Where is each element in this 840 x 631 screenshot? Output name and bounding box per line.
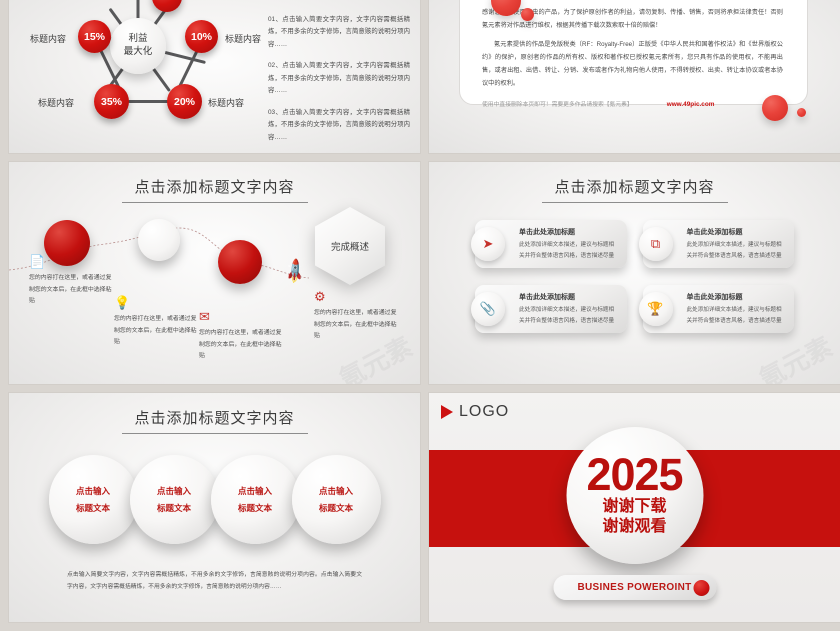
- radial-node-35[interactable]: 35%: [94, 84, 129, 119]
- notice-card: 感谢您下载使用图虫的产品，为了保护原创作者的利益，请勿复制、传播、销售，否则将承…: [459, 0, 808, 105]
- card-heading: 单击此处添加标题: [687, 227, 788, 237]
- timeline-item[interactable]: ✉ 您的内容打在这里，或者通过复制您的文本后，在此框中选择粘贴: [199, 310, 285, 363]
- slide-thank-you[interactable]: LOGO 2025 谢谢下载 谢谢观看 BUSINES POWEROINT: [429, 393, 840, 622]
- completion-hexagon[interactable]: 完成概述: [315, 207, 385, 285]
- circle-line-2: 标题文本: [319, 500, 353, 516]
- decorative-blob: [521, 8, 534, 21]
- radial-paragraph: 01、点击输入简要文字内容，文字内容需概括精炼，不用多余的文字修饰，言简意赅的说…: [268, 14, 410, 51]
- radial-label-right-top: 标题内容: [225, 32, 261, 45]
- page-title: 点击添加标题文字内容: [429, 162, 840, 197]
- trophy-icon: 🏆: [639, 292, 673, 326]
- card-heading: 单击此处添加标题: [687, 292, 788, 302]
- card-body: 此处添加详细文本描述，建议与标题相关并符合整体语言风格，语言描述尽量: [687, 240, 788, 261]
- card-body: 此处添加详细文本描述，建议与标题相关并符合整体语言风格，语言描述尽量: [519, 305, 620, 326]
- notice-footer-url[interactable]: www.49pic.com: [667, 101, 715, 108]
- hub-line-2: 最大化: [124, 46, 153, 59]
- circle-item[interactable]: 点击输入 标题文本: [130, 455, 219, 544]
- radial-node-top[interactable]: [152, 0, 182, 12]
- title-divider: [542, 202, 728, 203]
- page-title: 点击添加标题文字内容: [9, 393, 420, 428]
- notice-body: 感谢您下载使用图虫的产品，为了保护原创作者的利益，请勿复制、传播、销售，否则将承…: [460, 0, 807, 108]
- thanks-circle: 2025 谢谢下载 谢谢观看: [566, 427, 703, 564]
- slide-radial-diagram[interactable]: 利益 最大化 15% 10% 35% 20% 标题内容 标题内容 标题内容 标题…: [9, 0, 420, 153]
- hub-line-1: 利益: [128, 33, 147, 46]
- pill-label: BUSINES POWEROINT: [578, 582, 692, 593]
- slide-grid: 利益 最大化 15% 10% 35% 20% 标题内容 标题内容 标题内容 标题…: [0, 0, 840, 631]
- timeline-item-text: 您的内容打在这里，或者通过复制您的文本后，在此框中选择粘贴: [314, 308, 400, 343]
- year-label: 2025: [586, 454, 682, 497]
- circle-line-2: 标题文本: [76, 500, 110, 516]
- circle-footer-text: 点击输入简要文字内容，文字内容需概括精炼，不用多余的文字修饰，言简意赅的说明分项…: [67, 569, 362, 593]
- radial-node-20[interactable]: 20%: [167, 84, 202, 119]
- powerpoint-pill[interactable]: BUSINES POWEROINT: [553, 575, 716, 600]
- radial-label-left-bottom: 标题内容: [38, 96, 74, 109]
- card-heading: 单击此处添加标题: [519, 292, 620, 302]
- timeline-item[interactable]: 💡 您的内容打在这里，或者通过复制您的文本后，在此框中选择粘贴: [114, 296, 200, 349]
- slide-feature-cards[interactable]: 点击添加标题文字内容 ➤ 单击此处添加标题 此处添加详细文本描述，建议与标题相关…: [429, 162, 840, 384]
- radial-label-left-top: 标题内容: [30, 32, 66, 45]
- circle-item[interactable]: 点击输入 标题文本: [49, 455, 138, 544]
- timeline-item[interactable]: 📄 您的内容打在这里，或者通过复制您的文本后，在此框中选择粘贴: [29, 255, 115, 308]
- copy-layers-icon: ⧉: [639, 227, 673, 261]
- feature-card[interactable]: ➤ 单击此处添加标题 此处添加详细文本描述，建议与标题相关并符合整体语言风格，语…: [475, 220, 627, 268]
- timeline-dot-2[interactable]: [138, 219, 180, 261]
- circle-line-2: 标题文本: [157, 500, 191, 516]
- circle-line-1: 点击输入: [76, 483, 110, 499]
- feature-card[interactable]: 📎 单击此处添加标题 此处添加详细文本描述，建议与标题相关并符合整体语言风格，语…: [475, 285, 627, 333]
- thanks-line-2: 谢谢观看: [602, 517, 666, 537]
- circle-line-1: 点击输入: [157, 483, 191, 499]
- notice-paragraph-2: 氪元素提供的作品是免版税类（RF：Royalty-Free）正版受《中华人民共和…: [482, 39, 783, 90]
- pill-dot-icon: [693, 580, 709, 596]
- thanks-line-1: 谢谢下载: [602, 497, 666, 517]
- gear-icon: ⚙: [314, 290, 400, 303]
- card-body: 此处添加详细文本描述，建议与标题相关并符合整体语言风格，语言描述尽量: [519, 240, 620, 261]
- notice-footer: 使用中直接删除本页即可！需要更多作品请搜索【氪元素】 www.49pic.com: [482, 99, 783, 108]
- timeline-item[interactable]: ⚙ 您的内容打在这里，或者通过复制您的文本后，在此框中选择粘贴: [314, 290, 400, 343]
- paperclip-icon: 📎: [471, 292, 505, 326]
- radial-text-column: 01、点击输入简要文字内容，文字内容需概括精炼，不用多余的文字修饰，言简意赅的说…: [268, 14, 410, 153]
- slide-copyright-notice[interactable]: 感谢您下载使用图虫的产品，为了保护原创作者的利益，请勿复制、传播、销售，否则将承…: [429, 0, 840, 153]
- hexagon-label: 完成概述: [315, 207, 385, 285]
- circle-item[interactable]: 点击输入 标题文本: [211, 455, 300, 544]
- radial-paragraph: 03、点击输入简要文字内容，文字内容需概括精炼，不用多余的文字修饰，言简意赅的说…: [268, 107, 410, 144]
- title-divider: [122, 433, 308, 434]
- mail-icon: ✉: [199, 310, 285, 323]
- logo-text: LOGO: [459, 403, 509, 421]
- lightbulb-icon: 💡: [114, 296, 200, 309]
- circle-row: 点击输入 标题文本 点击输入 标题文本 点击输入 标题文本 点击输入 标题文本: [9, 455, 420, 544]
- circle-line-1: 点击输入: [238, 483, 272, 499]
- timeline-dot-3[interactable]: [218, 240, 262, 284]
- document-icon: 📄: [29, 255, 115, 268]
- slide-timeline[interactable]: 点击添加标题文字内容 🚀 完成概述 📄 您的内容打在这里，或者通过复制您的文本后…: [9, 162, 420, 384]
- timeline-item-text: 您的内容打在这里，或者通过复制您的文本后，在此框中选择粘贴: [114, 314, 200, 349]
- circle-item[interactable]: 点击输入 标题文本: [292, 455, 381, 544]
- card-body: 此处添加详细文本描述，建议与标题相关并符合整体语言风格，语言描述尽量: [687, 305, 788, 326]
- radial-node-15[interactable]: 15%: [78, 20, 111, 53]
- circle-line-2: 标题文本: [238, 500, 272, 516]
- radial-paragraph: 02、点击输入简要文字内容，文字内容需概括精炼，不用多余的文字修饰，言简意赅的说…: [268, 60, 410, 97]
- watermark: 氪元素: [752, 327, 838, 384]
- radial-hub: 利益 最大化: [110, 18, 166, 74]
- radial-node-10[interactable]: 10%: [185, 20, 218, 53]
- timeline-item-text: 您的内容打在这里，或者通过复制您的文本后，在此框中选择粘贴: [199, 328, 285, 363]
- feature-card[interactable]: ⧉ 单击此处添加标题 此处添加详细文本描述，建议与标题相关并符合整体语言风格，语…: [643, 220, 795, 268]
- notice-footer-note: 使用中直接删除本页即可！需要更多作品请搜索【氪元素】: [482, 99, 633, 108]
- card-heading: 单击此处添加标题: [519, 227, 620, 237]
- decorative-blob: [762, 95, 788, 121]
- circle-line-1: 点击输入: [319, 483, 353, 499]
- logo[interactable]: LOGO: [441, 403, 509, 421]
- slide-circle-row[interactable]: 点击添加标题文字内容 点击输入 标题文本 点击输入 标题文本 点击输入 标题文本…: [9, 393, 420, 622]
- feature-card[interactable]: 🏆 单击此处添加标题 此处添加详细文本描述，建议与标题相关并符合整体语言风格，语…: [643, 285, 795, 333]
- radial-chart: 利益 最大化 15% 10% 35% 20% 标题内容 标题内容 标题内容 标题…: [9, 0, 267, 153]
- card-grid: ➤ 单击此处添加标题 此处添加详细文本描述，建议与标题相关并符合整体语言风格，语…: [429, 220, 840, 333]
- play-triangle-icon: [441, 405, 453, 419]
- decorative-blob: [797, 108, 806, 117]
- paper-plane-icon: ➤: [471, 227, 505, 261]
- radial-label-right-bottom: 标题内容: [208, 96, 244, 109]
- timeline-item-text: 您的内容打在这里，或者通过复制您的文本后，在此框中选择粘贴: [29, 273, 115, 308]
